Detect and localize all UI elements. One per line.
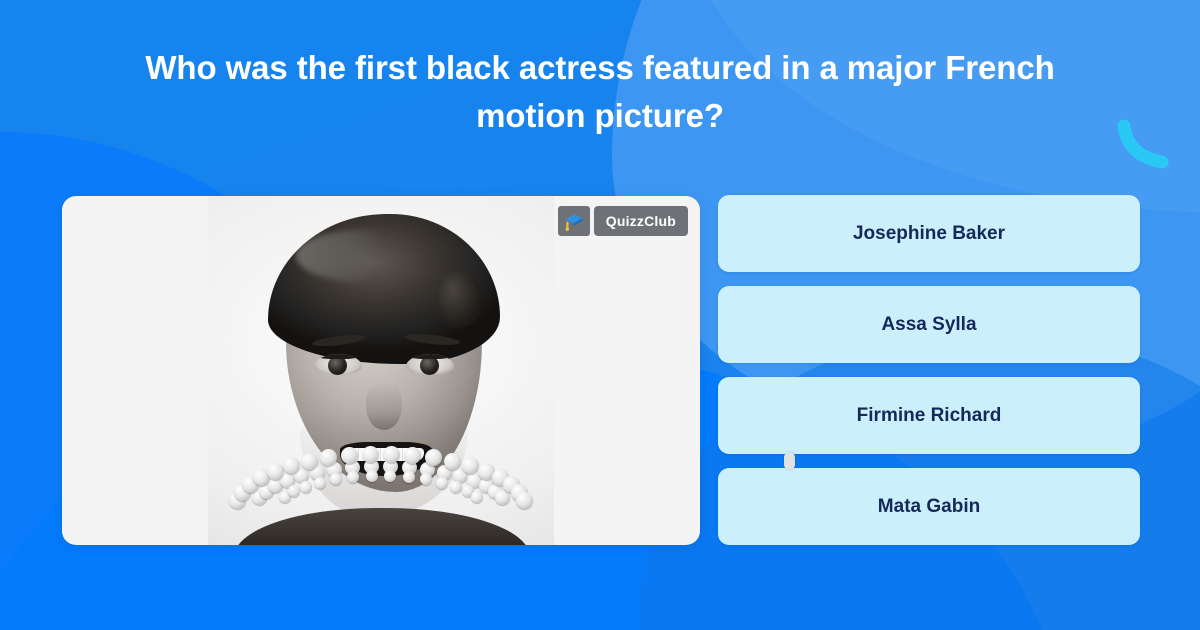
portrait-hair-curl (436, 270, 482, 328)
cyan-arc-icon (1118, 122, 1170, 168)
question-text: Who was the first black actress featured… (100, 44, 1100, 140)
answer-option-4[interactable]: Mata Gabin (718, 468, 1140, 545)
answer-options: Josephine Baker Assa Sylla Firmine Richa… (718, 195, 1140, 545)
portrait-pearl-necklace (208, 474, 554, 545)
graduation-cap-icon (558, 206, 590, 236)
quiz-card: Who was the first black actress featured… (0, 0, 1200, 630)
portrait-eye-left (314, 354, 362, 375)
watermark-label: QuizzClub (594, 206, 688, 236)
cursor-handle[interactable] (784, 452, 795, 470)
answer-option-1[interactable]: Josephine Baker (718, 195, 1140, 272)
quizzclub-watermark: QuizzClub (558, 206, 688, 236)
question-image-card: QuizzClub (62, 196, 700, 545)
answer-option-3[interactable]: Firmine Richard (718, 377, 1140, 454)
portrait-eye-right (406, 354, 454, 375)
answer-option-2[interactable]: Assa Sylla (718, 286, 1140, 363)
portrait-photo (208, 196, 554, 545)
